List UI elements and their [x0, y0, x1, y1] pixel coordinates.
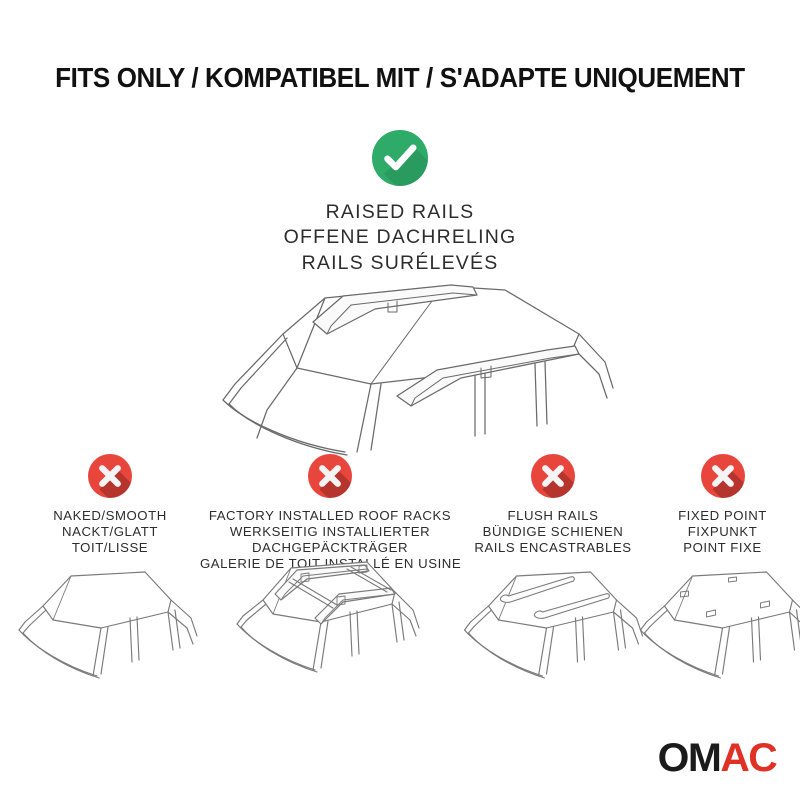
check-circle-icon: [372, 130, 428, 186]
rejected-label-3-en: FLUSH RAILS: [458, 508, 648, 524]
page-title: FITS ONLY / KOMPATIBEL MIT / S'ADAPTE UN…: [55, 62, 745, 94]
rejected-badge-wrap-1: [20, 450, 200, 502]
x-circle-icon: [701, 454, 745, 498]
rejected-badge-wrap-4: [645, 450, 800, 502]
car-roof-fixed-point-illustration: [630, 550, 800, 685]
car-roof-flush-rails-illustration: [451, 550, 656, 685]
car-roof-factory-rack-illustration: [215, 538, 445, 683]
rejected-label-3-de: BÜNDIGE SCHIENEN: [458, 524, 648, 540]
x-circle-icon: [531, 454, 575, 498]
approved-label-group: RAISED RAILS OFFENE DACHRELING RAILS SUR…: [0, 200, 800, 276]
logo-text-dark: OM: [657, 736, 720, 780]
rejected-label-1-de: NACKT/GLATT: [20, 524, 200, 540]
car-roof-raised-rails-illustration: [175, 276, 635, 466]
x-circle-icon: [88, 454, 132, 498]
rejected-badge-wrap-3: [458, 450, 648, 502]
logo-text-red: AC: [720, 736, 776, 780]
rejected-label-1-en: NAKED/SMOOTH: [20, 508, 200, 524]
rejected-section: NAKED/SMOOTH NACKT/GLATT TOIT/LISSE: [0, 450, 800, 690]
rejected-item-factory-rack: FACTORY INSTALLED ROOF RACKS WERKSEITIG …: [200, 450, 460, 572]
rejected-item-fixed-point: FIXED POINT FIXPUNKT POINT FIXE: [645, 450, 800, 556]
omac-logo: OMAC: [657, 738, 776, 778]
rejected-label-4-en: FIXED POINT: [645, 508, 800, 524]
approved-badge-wrap: [0, 126, 800, 190]
rejected-item-naked-smooth: NAKED/SMOOTH NACKT/GLATT TOIT/LISSE: [20, 450, 200, 556]
rejected-badge-wrap-2: [200, 450, 460, 502]
rejected-item-flush-rails: FLUSH RAILS BÜNDIGE SCHIENEN RAILS ENCAS…: [458, 450, 648, 556]
approved-label-fr: RAILS SURÉLEVÉS: [0, 251, 800, 276]
rejected-label-4-de: FIXPUNKT: [645, 524, 800, 540]
car-roof-naked-smooth-illustration: [5, 550, 215, 685]
rejected-label-2-en: FACTORY INSTALLED ROOF RACKS: [200, 508, 460, 524]
header-banner: FITS ONLY / KOMPATIBEL MIT / S'ADAPTE UN…: [0, 0, 800, 104]
approved-label-de: OFFENE DACHRELING: [0, 225, 800, 250]
approved-section: RAISED RAILS OFFENE DACHRELING RAILS SUR…: [0, 126, 800, 276]
approved-label-en: RAISED RAILS: [0, 200, 800, 225]
x-circle-icon: [308, 454, 352, 498]
